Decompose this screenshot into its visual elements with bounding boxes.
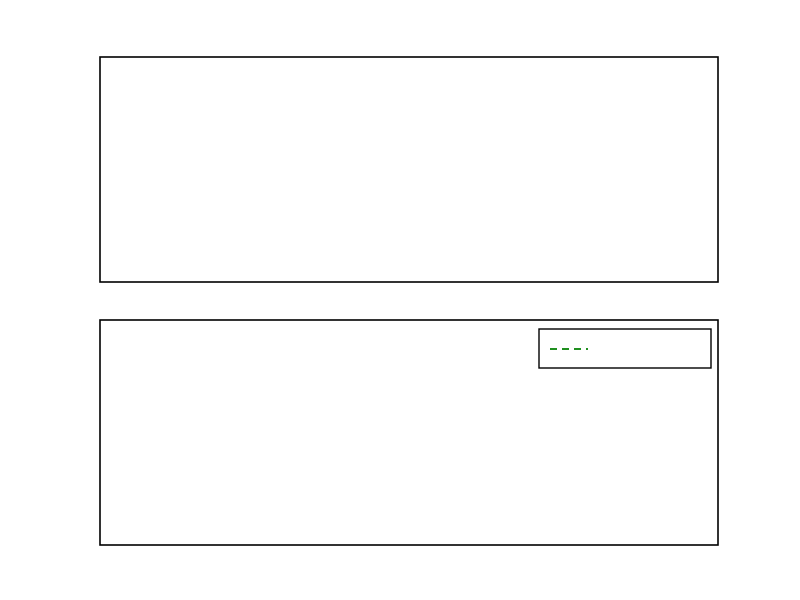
top-axes-differential-histogram: [100, 57, 718, 282]
top-plot-area: [100, 57, 718, 282]
matplotlib-figure: [0, 0, 800, 600]
legend[interactable]: [539, 329, 711, 368]
figure-canvas: [0, 0, 800, 600]
